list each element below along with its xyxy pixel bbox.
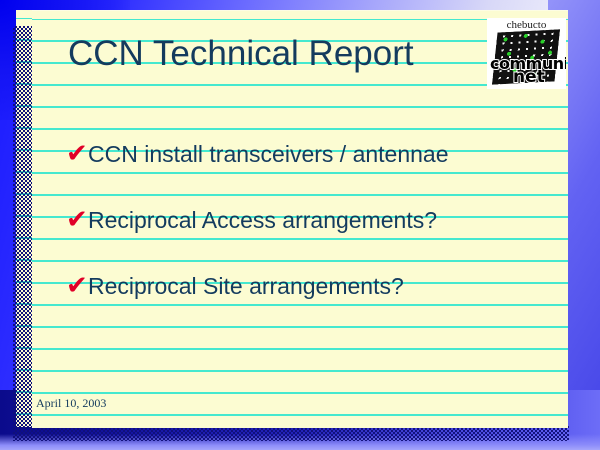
checkmark-icon: ✔ [66, 207, 88, 233]
slide-canvas: CCN Technical Report chebucto community … [0, 0, 600, 450]
logo-net-text: net [513, 69, 545, 86]
list-item-label: CCN install transceivers / antennae [88, 139, 449, 169]
slide-date: April 10, 2003 [36, 396, 106, 410]
list-item: ✔ Reciprocal Access arrangements? [66, 205, 536, 271]
list-item-label: Reciprocal Site arrangements? [88, 271, 404, 301]
list-item-label: Reciprocal Access arrangements? [88, 205, 437, 235]
checkmark-icon: ✔ [66, 273, 88, 299]
checkmark-icon: ✔ [66, 141, 88, 167]
list-item: ✔ CCN install transceivers / antennae [66, 139, 536, 205]
bullet-list: ✔ CCN install transceivers / antennae ✔ … [66, 139, 536, 337]
page-title: CCN Technical Report [68, 33, 414, 75]
list-item: ✔ Reciprocal Site arrangements? [66, 271, 536, 337]
chebucto-community-net-logo: chebucto community net [487, 18, 566, 89]
slide-content: CCN Technical Report chebucto community … [0, 0, 600, 450]
